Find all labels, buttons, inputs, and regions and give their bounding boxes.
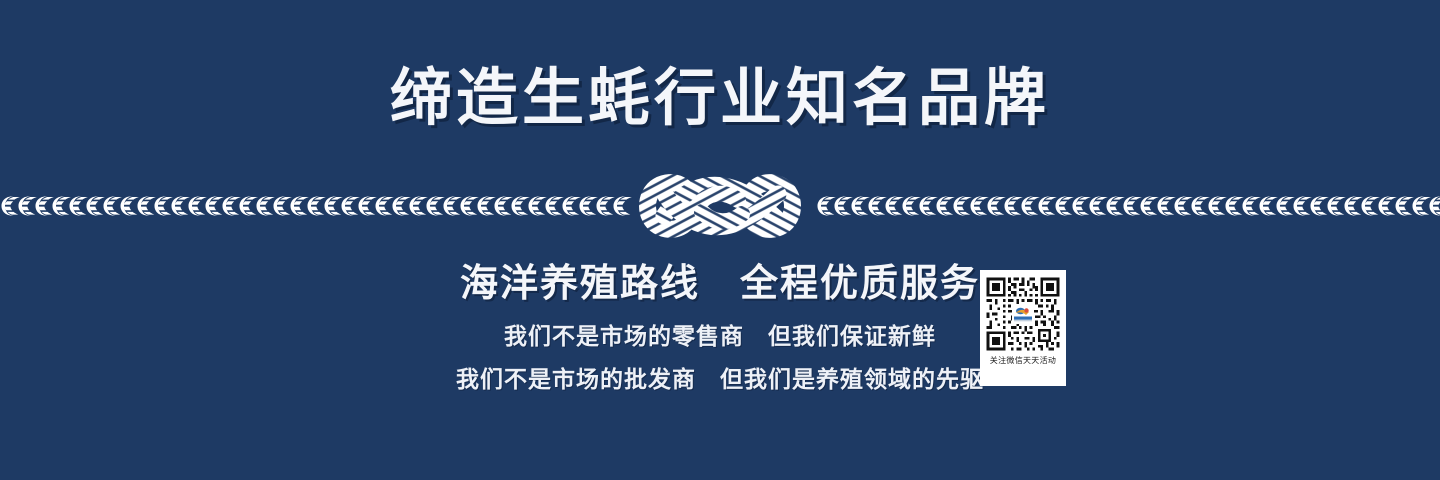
subheadline: 海洋养殖路线 全程优质服务 <box>0 262 1440 308</box>
qr-code-icon[interactable] <box>984 275 1062 353</box>
qr-center-logo <box>1012 304 1034 324</box>
headline: 缔造生蚝行业知名品牌 <box>0 68 1440 130</box>
tagline-retail: 我们不是市场的零售商 但我们保证新鲜 <box>0 323 1440 351</box>
promo-banner: 缔造生蚝行业知名品牌 <box>0 0 1440 480</box>
wechat-qr-card[interactable]: 关注微信天天活动 <box>980 270 1066 386</box>
tagline-wholesale: 我们不是市场的批发商 但我们是养殖领域的先驱 <box>0 366 1440 394</box>
qr-caption: 关注微信天天活动 <box>990 357 1056 365</box>
rope-divider <box>0 168 1440 244</box>
rope-knot-icon <box>620 168 820 244</box>
